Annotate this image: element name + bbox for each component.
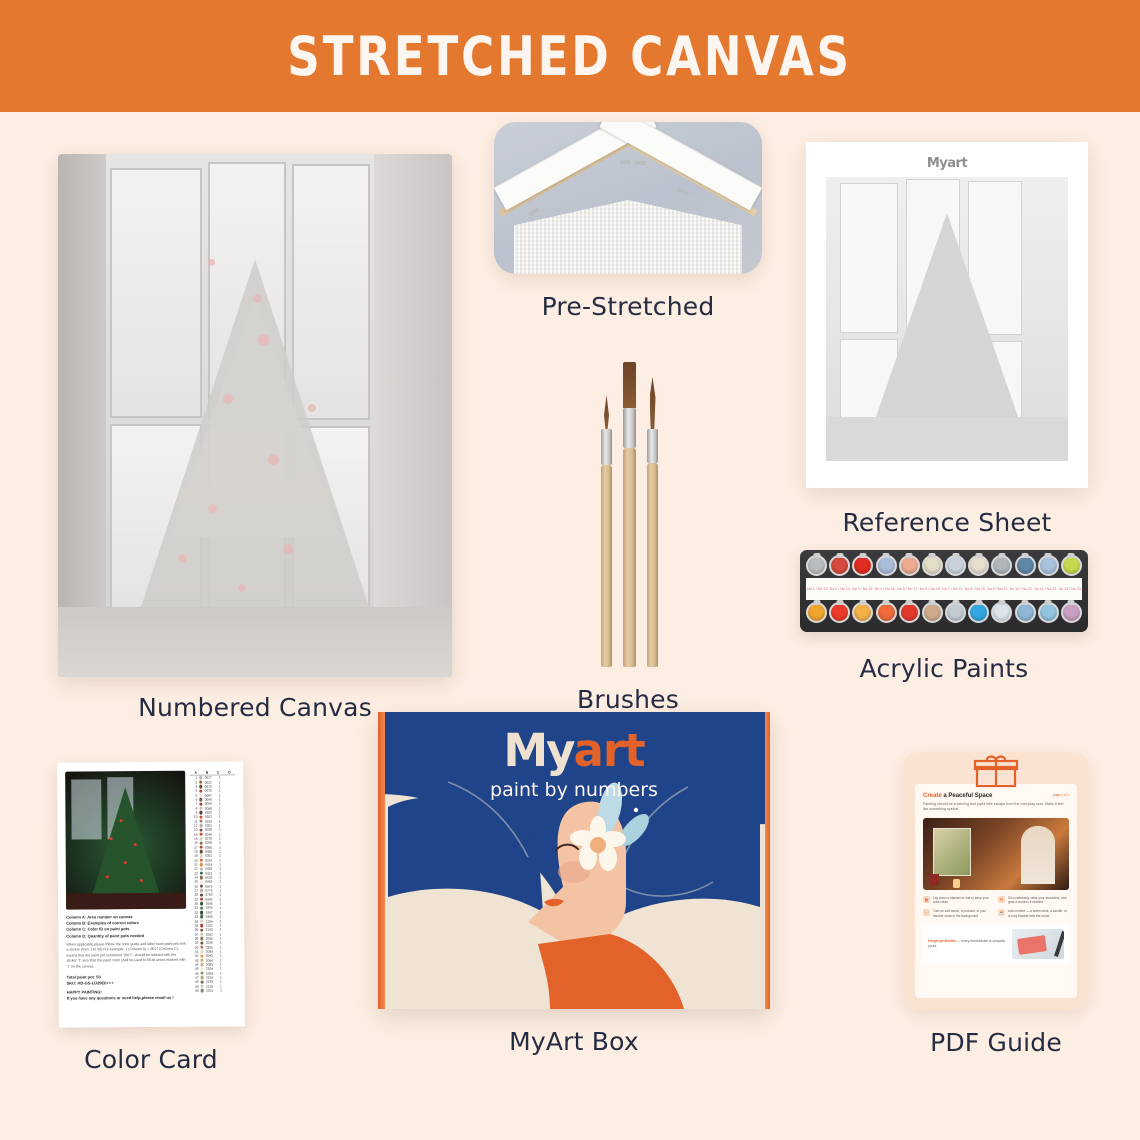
brush-flat bbox=[623, 362, 636, 667]
paint-pot bbox=[852, 555, 873, 576]
paint-code-label: No 11 / No 23 bbox=[1034, 587, 1056, 591]
pdf-guide-title: page 1 of 1 Create a Peaceful Space bbox=[923, 793, 1069, 799]
tip-icon: ♪ bbox=[923, 909, 930, 916]
legend-column-d: Column D: Quantity of paint pots needed bbox=[66, 932, 186, 939]
caption-myart-box: MyArt Box bbox=[378, 1027, 770, 1056]
paint-pot bbox=[1038, 555, 1059, 576]
pdf-tip-item: ☰Sit comfortably, relax your shoulders, … bbox=[998, 896, 1068, 905]
color-card-instructions: When applicable,please follow the color … bbox=[66, 942, 186, 971]
pdf-tip-item: ♪Turn on soft music, a podcast, or your … bbox=[923, 909, 993, 918]
paint-code-label: No 9 / No 21 bbox=[987, 587, 1007, 591]
tip-text: Lay down a blanket or mat to keep your a… bbox=[933, 896, 993, 905]
item-numbered-canvas[interactable]: Numbered Canvas bbox=[58, 154, 452, 722]
gift-icon bbox=[973, 754, 1019, 788]
help-line: If you have any questions or need help,p… bbox=[67, 995, 187, 1002]
pdf-tip-item: ☕Add comfort — a warm drink, a candle, o… bbox=[998, 909, 1068, 918]
item-brushes[interactable]: Brushes bbox=[505, 362, 751, 714]
paint-label-strip: No 1 / No 13No 2 / No 14No 3 / No 15No 4… bbox=[806, 578, 1082, 600]
note-accent: Forget perfection bbox=[928, 939, 956, 943]
paint-pot bbox=[806, 555, 827, 576]
tip-text: Sit comfortably, relax your shoulders, a… bbox=[1008, 896, 1068, 905]
paint-pot bbox=[922, 555, 943, 576]
item-myart-box[interactable]: Myart paint by numbers MyArt Box bbox=[378, 712, 770, 1056]
paint-code-label: No 2 / No 14 bbox=[830, 587, 850, 591]
paint-pot bbox=[1015, 602, 1036, 623]
tip-icon: ☰ bbox=[998, 896, 1005, 903]
paint-code-label: No 12 / No 24 bbox=[1059, 587, 1081, 591]
paint-pot bbox=[991, 555, 1012, 576]
logo-my: My bbox=[503, 724, 573, 777]
staple-icon bbox=[528, 208, 540, 217]
caption-reference-sheet: Reference Sheet bbox=[806, 508, 1088, 537]
paint-code-label: No 1 / No 13 bbox=[807, 587, 827, 591]
product-grid: Numbered Canvas Pre-Stretched Myart bbox=[0, 112, 1140, 1140]
col-b: B bbox=[206, 771, 208, 775]
pre-stretched-image bbox=[494, 122, 762, 274]
item-acrylic-paints[interactable]: No 1 / No 13No 2 / No 14No 3 / No 15No 4… bbox=[800, 550, 1088, 683]
item-pdf-guide[interactable]: page 1 of 1 Create a Peaceful Space Pain… bbox=[903, 752, 1089, 1057]
color-table-body: 1001712002213007314007615008716009017009… bbox=[190, 775, 237, 992]
caption-color-card: Color Card bbox=[58, 1045, 244, 1074]
paint-pot bbox=[829, 602, 850, 623]
myart-box-image: Myart paint by numbers bbox=[378, 712, 770, 1009]
pdf-subtitle: Painting should be a calming and joyful … bbox=[923, 802, 1069, 813]
page-title: STRETCHED CANVAS bbox=[288, 25, 853, 88]
paint-pot bbox=[899, 555, 920, 576]
col-a: A bbox=[195, 771, 197, 775]
tip-icon: ☕ bbox=[998, 909, 1005, 916]
paint-pot bbox=[922, 602, 943, 623]
paint-pot bbox=[876, 602, 897, 623]
paint-pot bbox=[945, 555, 966, 576]
pdf-tip-item: ▦Lay down a blanket or mat to keep your … bbox=[923, 896, 993, 905]
pdf-page-number: page 1 of 1 bbox=[1053, 793, 1069, 797]
caption-brushes: Brushes bbox=[505, 685, 751, 714]
staple-icon bbox=[678, 188, 690, 197]
paint-code-label: No 8 / No 20 bbox=[965, 587, 985, 591]
reference-sheet-image: Myart bbox=[806, 142, 1088, 488]
paint-pot bbox=[852, 602, 873, 623]
paint-code-label: No 4 / No 16 bbox=[875, 587, 895, 591]
pdf-note: Forget perfection — every brushstroke is… bbox=[923, 924, 1069, 964]
item-reference-sheet[interactable]: Myart Reference Sheet bbox=[806, 142, 1088, 537]
tip-icon: ▦ bbox=[923, 896, 930, 903]
tip-text: Add comfort — a warm drink, a candle, or… bbox=[1008, 909, 1068, 918]
brush-round bbox=[647, 377, 658, 667]
color-card-photo bbox=[65, 771, 186, 910]
paint-pot bbox=[1015, 555, 1036, 576]
title-accent: Create bbox=[923, 793, 942, 799]
myart-logo-ref: Myart bbox=[826, 156, 1068, 171]
paint-pot bbox=[991, 602, 1012, 623]
caption-acrylic-paints: Acrylic Paints bbox=[800, 654, 1088, 683]
color-table-row: 5022011 bbox=[192, 988, 237, 993]
acrylic-paints-image: No 1 / No 13No 2 / No 14No 3 / No 15No 4… bbox=[800, 550, 1088, 632]
staple-icon bbox=[635, 161, 646, 165]
paint-pot bbox=[968, 602, 989, 623]
paint-pot-row-bottom bbox=[806, 602, 1082, 623]
col-c: C bbox=[217, 771, 219, 775]
tip-text: Turn on soft music, a podcast, or your f… bbox=[933, 909, 993, 918]
logo-art: art bbox=[574, 724, 645, 777]
paint-code-label: No 5 / No 17 bbox=[897, 587, 917, 591]
paint-pot bbox=[968, 555, 989, 576]
box-tagline: paint by numbers bbox=[378, 779, 770, 801]
paint-code-label: No 6 / No 18 bbox=[920, 587, 940, 591]
caption-pre-stretched: Pre-Stretched bbox=[494, 292, 762, 321]
pdf-tips-list: ▦Lay down a blanket or mat to keep your … bbox=[923, 896, 1069, 919]
pdf-photo bbox=[923, 818, 1069, 890]
paint-code-label: No 10 / No 22 bbox=[1010, 587, 1032, 591]
brushes-image bbox=[505, 362, 751, 667]
col-d: D bbox=[228, 770, 230, 774]
paint-code-label: No 7 / No 19 bbox=[942, 587, 962, 591]
title-rest: a Peaceful Space bbox=[942, 793, 993, 799]
paint-pot bbox=[1061, 602, 1082, 623]
paint-pot bbox=[806, 602, 827, 623]
color-card-image: Column A: Area number on canvas Column B… bbox=[57, 761, 245, 1027]
paint-pot-row-top bbox=[806, 555, 1082, 576]
paint-pot bbox=[876, 555, 897, 576]
myart-logo-box: Myart paint by numbers bbox=[378, 724, 770, 801]
sku-line: SKU: HD-GS-LU29E6+++ bbox=[67, 980, 187, 987]
staple-icon bbox=[620, 160, 631, 164]
paint-pot bbox=[1038, 602, 1059, 623]
caption-pdf-guide: PDF Guide bbox=[903, 1028, 1089, 1057]
pdf-note-image bbox=[1012, 929, 1064, 959]
color-card-legend: Column A: Area number on canvas Column B… bbox=[66, 914, 187, 1002]
paint-pot bbox=[829, 555, 850, 576]
paint-pot bbox=[945, 602, 966, 623]
paint-pot bbox=[899, 602, 920, 623]
paint-pot bbox=[1061, 555, 1082, 576]
numbered-canvas-image bbox=[58, 154, 452, 677]
header-banner: STRETCHED CANVAS bbox=[0, 0, 1140, 112]
paint-code-label: No 3 / No 15 bbox=[852, 587, 872, 591]
pdf-guide-image: page 1 of 1 Create a Peaceful Space Pain… bbox=[903, 752, 1089, 1010]
brush-small bbox=[601, 395, 612, 667]
item-color-card[interactable]: Column A: Area number on canvas Column B… bbox=[58, 762, 244, 1074]
item-pre-stretched[interactable]: Pre-Stretched bbox=[494, 122, 762, 321]
